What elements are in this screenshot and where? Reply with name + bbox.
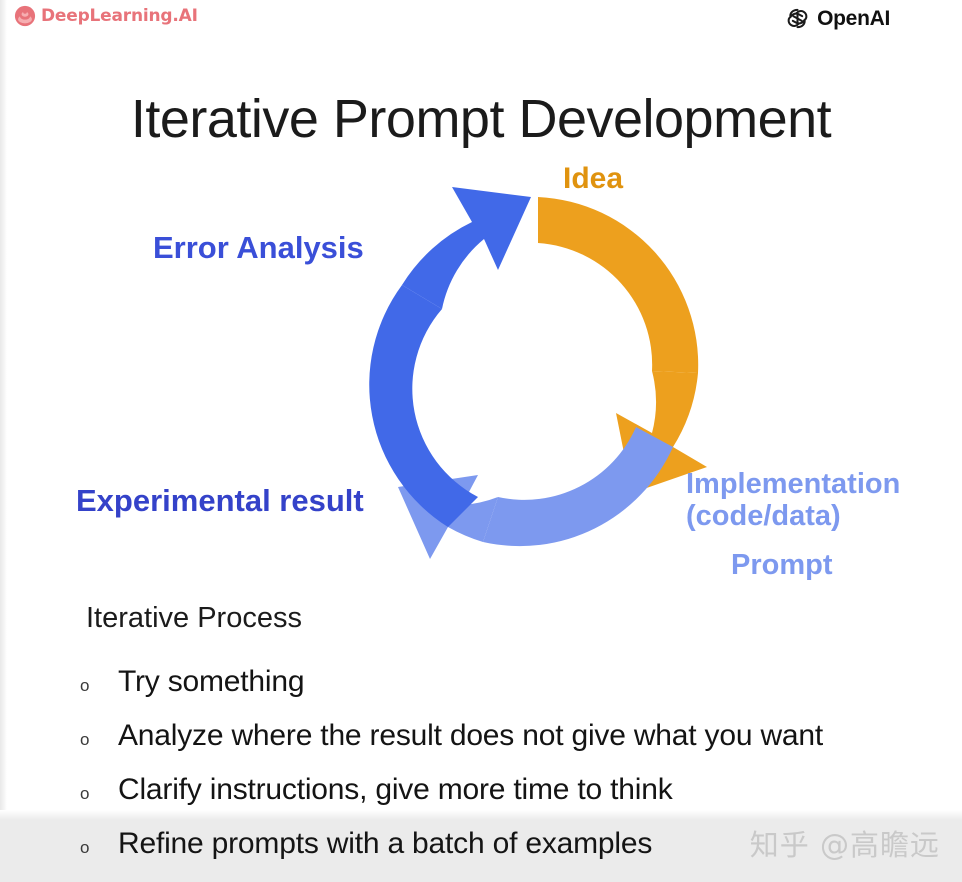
bullet-marker-icon: o — [72, 838, 118, 858]
deeplearning-ai-logo: DeepLearning.AI — [14, 5, 198, 27]
body-heading: Iterative Process — [86, 602, 302, 635]
slide-canvas: DeepLearning.AI OpenAI Iterative Prompt … — [0, 0, 962, 882]
deeplearning-ai-logo-text: DeepLearning.AI — [41, 6, 198, 26]
cycle-label-implementation: Implementation (code/data) — [686, 468, 900, 533]
cycle-label-implementation-line1: Implementation — [686, 468, 900, 500]
watermark: 知乎 @高瞻远 — [750, 822, 940, 864]
royal-blue-arc-arrow — [369, 187, 531, 527]
openai-logo-icon — [785, 6, 810, 31]
cycle-label-error-analysis: Error Analysis — [153, 231, 364, 266]
list-item: o Analyze where the result does not give… — [72, 719, 952, 773]
list-item: o Try something — [72, 665, 952, 719]
openai-logo: OpenAI — [785, 6, 890, 31]
bullet-marker-icon: o — [72, 784, 118, 804]
page-title: Iterative Prompt Development — [0, 88, 962, 150]
cycle-label-prompt: Prompt — [731, 549, 833, 581]
bottom-band-fade — [0, 810, 962, 820]
cycle-label-experimental-result: Experimental result — [76, 484, 364, 519]
list-item-label: Clarify instructions, give more time to … — [118, 773, 673, 807]
orange-arc-arrow — [538, 197, 707, 493]
list-item-label: Try something — [118, 665, 304, 699]
deeplearning-ai-logo-icon — [14, 5, 36, 27]
cycle-label-implementation-line2: (code/data) — [686, 500, 900, 532]
cycle-arrows-svg — [340, 175, 740, 575]
bullet-marker-icon: o — [72, 730, 118, 750]
list-item-label: Refine prompts with a batch of examples — [118, 827, 652, 861]
iterative-cycle-diagram — [340, 175, 740, 575]
openai-logo-text: OpenAI — [817, 7, 890, 31]
cycle-label-idea: Idea — [563, 162, 623, 196]
list-item-label: Analyze where the result does not give w… — [118, 719, 823, 753]
bullet-marker-icon: o — [72, 676, 118, 696]
